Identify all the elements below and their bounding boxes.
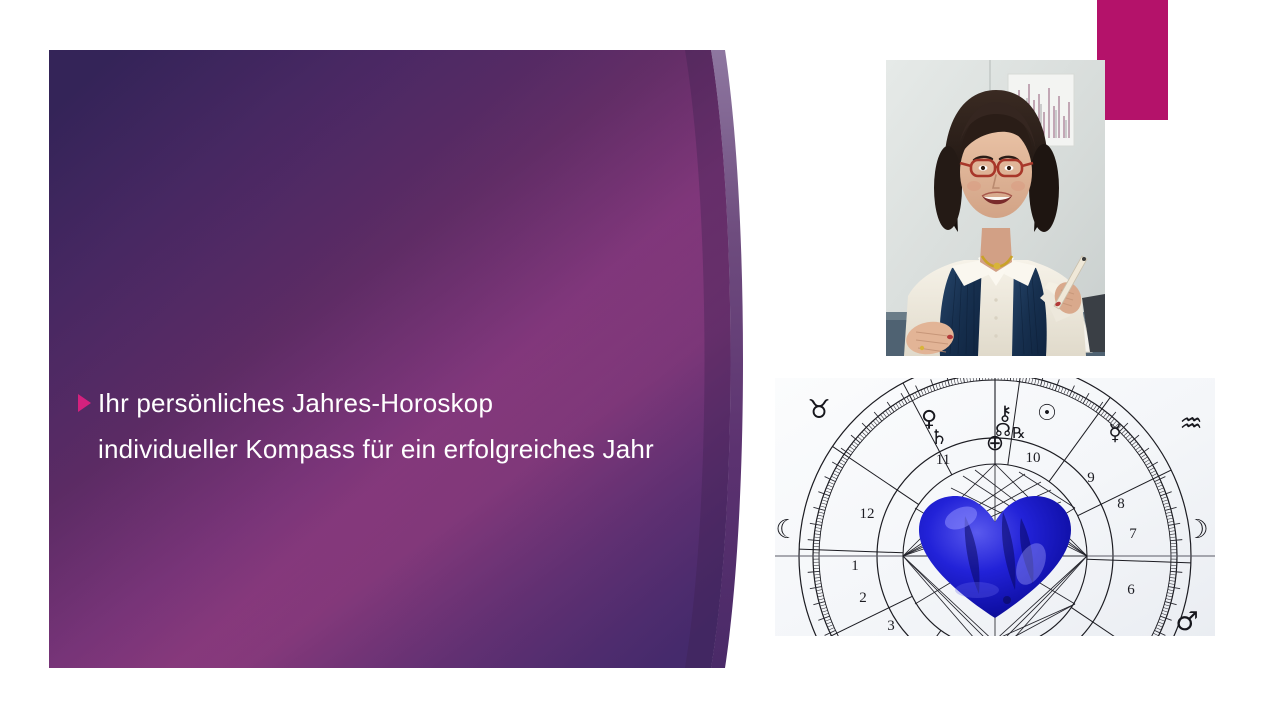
saturn-glyph: ♄ bbox=[930, 425, 948, 449]
svg-text:9: 9 bbox=[1087, 470, 1095, 486]
photo-graphic bbox=[886, 60, 1105, 356]
natal-chart-image: 11 10 9 8 7 6 12 1 2 3 ♉ ♒ ☾ ☽ ♂ ♀ ♄ ⚷ bbox=[775, 378, 1215, 636]
mars-glyph: ♂ bbox=[1175, 607, 1198, 636]
svg-text:1: 1 bbox=[851, 558, 859, 574]
purple-curved-panel bbox=[49, 50, 749, 668]
svg-text:12: 12 bbox=[860, 506, 875, 522]
chart-graphic: 11 10 9 8 7 6 12 1 2 3 ♉ ♒ ☾ ☽ ♂ ♀ ♄ ⚷ bbox=[775, 378, 1215, 636]
svg-text:8: 8 bbox=[1117, 496, 1125, 512]
retrograde-glyph: ℞ bbox=[1012, 424, 1025, 442]
taurus-glyph: ♉ bbox=[807, 395, 830, 425]
svg-text:3: 3 bbox=[887, 618, 895, 634]
accent-rectangle bbox=[1097, 0, 1168, 120]
slide-canvas: Ihr persönliches Jahres-Horoskop individ… bbox=[0, 0, 1280, 720]
earth-glyph: ⊕ bbox=[986, 431, 1004, 456]
sun-glyph: ☉ bbox=[1037, 401, 1057, 426]
body-line-1: Ihr persönliches Jahres-Horoskop bbox=[98, 386, 493, 420]
svg-text:6: 6 bbox=[1127, 582, 1135, 598]
triangle-bullet-icon bbox=[78, 394, 91, 412]
body-line-2: individueller Kompass für ein erfolgreic… bbox=[98, 432, 728, 466]
moon-right-glyph: ☽ bbox=[1185, 515, 1208, 545]
slide-body-text: Ihr persönliches Jahres-Horoskop individ… bbox=[78, 386, 728, 466]
svg-text:7: 7 bbox=[1129, 526, 1137, 542]
svg-text:2: 2 bbox=[859, 590, 867, 606]
svg-text:11: 11 bbox=[936, 452, 950, 468]
moon-glyph: ☾ bbox=[775, 515, 798, 545]
panel-shape bbox=[49, 50, 749, 668]
panel-overlay bbox=[49, 50, 731, 668]
astrologer-photo bbox=[886, 60, 1105, 356]
aquarius-glyph: ♒ bbox=[1179, 409, 1202, 439]
svg-text:10: 10 bbox=[1026, 450, 1041, 466]
bullet-line-1: Ihr persönliches Jahres-Horoskop bbox=[78, 386, 728, 420]
mercury-glyph: ☿ bbox=[1108, 421, 1122, 446]
